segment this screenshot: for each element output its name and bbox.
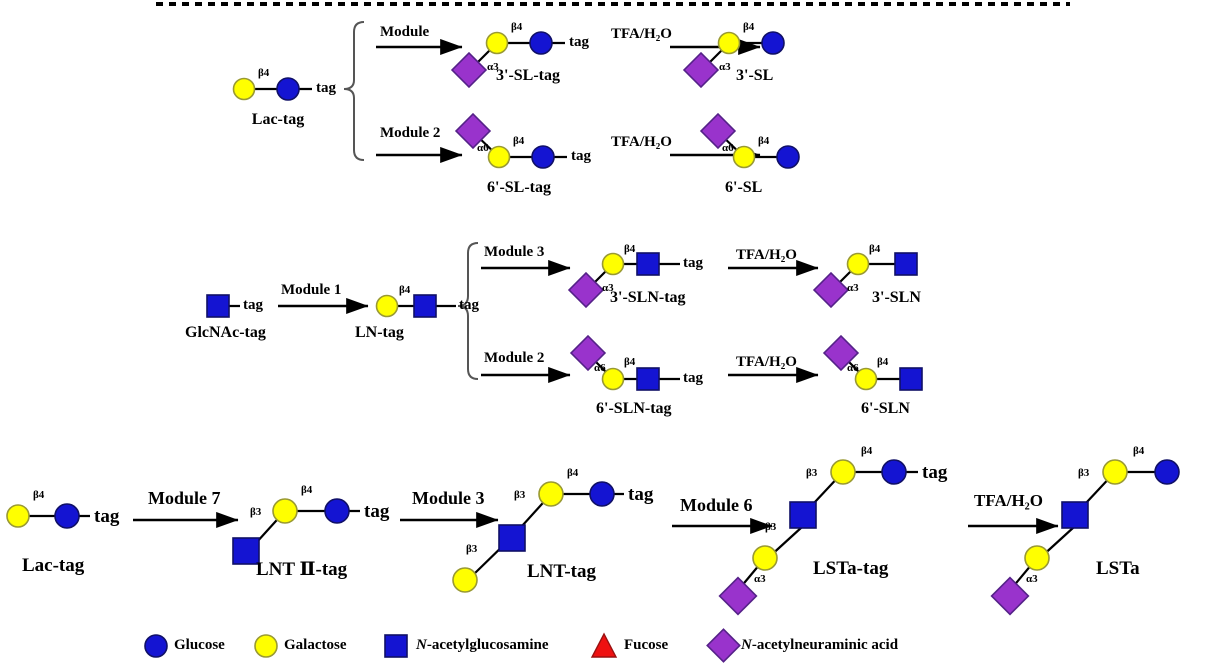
tag-label-lac-row1: tag bbox=[316, 81, 336, 96]
residue-galactose bbox=[719, 33, 740, 54]
legend-text-neuac: -acetylneuraminic acid bbox=[752, 637, 898, 653]
linkage-b4-lnt: β4 bbox=[567, 468, 578, 479]
linkage-a6-6sln-tag: α6 bbox=[594, 363, 606, 374]
residue-glcnac bbox=[900, 368, 922, 390]
residue-glcnac bbox=[637, 368, 659, 390]
linkage-b3-lnt-1: β3 bbox=[514, 490, 525, 501]
legend-italic-n-neuac: N bbox=[741, 637, 752, 653]
linkage-b3-lsta-tag-2: β3 bbox=[765, 522, 776, 533]
label-6sln: 6'-SLN bbox=[861, 401, 910, 417]
residue-galactose bbox=[539, 482, 563, 506]
label-lac-tag-row1: Lac-tag bbox=[252, 112, 304, 128]
residue-glcnac bbox=[207, 295, 229, 317]
label-6sl-tag: 6'-SL-tag bbox=[487, 180, 551, 196]
linkage-b4-6sln-tag: β4 bbox=[624, 357, 635, 368]
linkage-b4-3sl-tag: β4 bbox=[511, 22, 522, 33]
label-row2-module1: Module 1 bbox=[281, 283, 341, 298]
residue-glcnac bbox=[414, 295, 436, 317]
residue-galactose bbox=[831, 460, 855, 484]
residue-galactose bbox=[487, 33, 508, 54]
residue-galactose-branch bbox=[453, 568, 477, 592]
tag-label-6sl: tag bbox=[571, 149, 591, 164]
label-6sln-tag: 6'-SLN-tag bbox=[596, 401, 672, 417]
tag-label-6sln: tag bbox=[683, 371, 703, 386]
label-3sln: 3'-SLN bbox=[872, 290, 921, 306]
legend-galactose-icon bbox=[255, 635, 277, 657]
residue-glucose bbox=[590, 482, 614, 506]
legend-label-galactose: Galactose bbox=[284, 638, 346, 653]
linkage-b4-3sl: β4 bbox=[743, 22, 754, 33]
reagent-row2-upper: TFA/H₂O bbox=[736, 248, 797, 263]
label-row3-module7: Module 7 bbox=[148, 489, 221, 507]
label-row2-module-lower: Module 2 bbox=[484, 351, 544, 366]
label-lsta-tag: LSTa-tag bbox=[813, 559, 888, 578]
legend-label-fucose: Fucose bbox=[624, 638, 668, 653]
label-3sl-tag: 3'-SL-tag bbox=[496, 68, 560, 84]
residue-glucose bbox=[1155, 460, 1179, 484]
reagent-row2-lower: TFA/H₂O bbox=[736, 355, 797, 370]
tag-label-lac-row3: tag bbox=[94, 507, 119, 526]
linkage-a3-3sl: α3 bbox=[719, 62, 731, 73]
linkage-a3-lsta: α3 bbox=[1026, 574, 1038, 585]
linkage-b3-lsta-1: β3 bbox=[1078, 468, 1089, 479]
linkage-a6-6sln: α6 bbox=[847, 363, 859, 374]
reagent-text-row2-lower: TFA/H₂O bbox=[736, 354, 797, 370]
label-lnt2-tag: LNT Ⅱ-tag bbox=[256, 560, 347, 579]
tag-label-ln: tag bbox=[459, 298, 479, 313]
label-row1-module-lower: Module 2 bbox=[380, 126, 440, 141]
linkage-b3-lnt2: β3 bbox=[250, 507, 261, 518]
residue-galactose bbox=[234, 79, 255, 100]
figure-canvas: tag β4 Lac-tag Module Module 2 β4 α3 tag… bbox=[0, 0, 1222, 667]
residue-glcnac bbox=[790, 502, 816, 528]
residue-glucose bbox=[277, 78, 299, 100]
residue-galactose bbox=[273, 499, 297, 523]
residue-glcnac bbox=[637, 253, 659, 275]
label-ln-tag: LN-tag bbox=[355, 325, 404, 341]
legend-neuac-icon bbox=[707, 629, 740, 662]
reagent-text-row2-upper: TFA/H₂O bbox=[736, 247, 797, 263]
reagent-text-row1-lower: TFA/H₂O bbox=[611, 134, 672, 150]
legend-label-glcnac: N-acetylglucosamine bbox=[416, 638, 548, 653]
legend-glcnac-icon bbox=[385, 635, 407, 657]
label-3sln-tag: 3'-SLN-tag bbox=[610, 290, 686, 306]
linkage-b4-lsta-tag: β4 bbox=[861, 446, 872, 457]
tag-label-3sln: tag bbox=[683, 256, 703, 271]
legend-text-glcnac: -acetylglucosamine bbox=[427, 637, 549, 653]
residue-galactose bbox=[377, 296, 398, 317]
residue-glucose bbox=[882, 460, 906, 484]
linkage-b4-lsta: β4 bbox=[1133, 446, 1144, 457]
glycan-vector-layer bbox=[0, 0, 1222, 667]
linkage-b4-3sln-tag: β4 bbox=[624, 244, 635, 255]
residue-glcnac bbox=[895, 253, 917, 275]
reagent-text-row3: TFA/H₂O bbox=[974, 491, 1043, 510]
legend-fucose-icon bbox=[592, 634, 616, 657]
legend-italic-n-glcnac: N bbox=[416, 637, 427, 653]
linkage-b4-ln-tag: β4 bbox=[399, 285, 410, 296]
linkage-b3-lnt-2: β3 bbox=[466, 544, 477, 555]
label-lnt-tag: LNT-tag bbox=[527, 562, 596, 581]
reagent-row1-lower: TFA/H₂O bbox=[611, 135, 672, 150]
label-lac-tag-row3: Lac-tag bbox=[22, 556, 84, 575]
linkage-a3-lsta-tag: α3 bbox=[754, 574, 766, 585]
linkage-b4-3sln: β4 bbox=[869, 244, 880, 255]
linkage-b4-6sl: β4 bbox=[758, 136, 769, 147]
linkage-b4-lac-row3: β4 bbox=[33, 490, 44, 501]
label-lsta: LSTa bbox=[1096, 559, 1140, 578]
linkage-b4-6sln: β4 bbox=[877, 357, 888, 368]
structure-lsta bbox=[992, 460, 1179, 614]
residue-glucose bbox=[532, 146, 554, 168]
linkage-b3-lsta-tag-1: β3 bbox=[806, 468, 817, 479]
residue-galactose-branch bbox=[1025, 546, 1049, 570]
label-row3-module6: Module 6 bbox=[680, 496, 753, 514]
structure-6sl-tag bbox=[456, 114, 567, 168]
residue-neuac bbox=[720, 578, 757, 615]
residue-neuac bbox=[992, 578, 1029, 615]
linkage-b4-lnt2: β4 bbox=[301, 485, 312, 496]
tag-label-lnt2: tag bbox=[364, 502, 389, 521]
reagent-row1-upper: TFA/H₂O bbox=[611, 27, 672, 42]
reagent-row3: TFA/H₂O bbox=[974, 492, 1043, 509]
brace-row1 bbox=[344, 22, 364, 160]
linkage-b4-lac-row1: β4 bbox=[258, 68, 269, 79]
legend-label-glucose: Glucose bbox=[174, 638, 225, 653]
structure-6sl bbox=[701, 114, 799, 168]
residue-glucose bbox=[777, 146, 799, 168]
label-3sl: 3'-SL bbox=[736, 68, 773, 84]
label-row3-module3: Module 3 bbox=[412, 489, 485, 507]
legend-label-neuac: N-acetylneuraminic acid bbox=[741, 638, 898, 653]
reagent-text-row1-upper: TFA/H₂O bbox=[611, 26, 672, 42]
linkage-a3-3sln: α3 bbox=[847, 283, 859, 294]
residue-glucose bbox=[762, 32, 784, 54]
legend-glucose-icon bbox=[145, 635, 167, 657]
residue-glcnac bbox=[499, 525, 525, 551]
tag-label-lsta: tag bbox=[922, 463, 947, 482]
residue-galactose bbox=[848, 254, 869, 275]
label-row1-module-upper: Module bbox=[380, 25, 429, 40]
residue-galactose bbox=[734, 147, 755, 168]
residue-galactose bbox=[603, 254, 624, 275]
residue-glucose bbox=[530, 32, 552, 54]
residue-glcnac bbox=[1062, 502, 1088, 528]
tag-label-lnt: tag bbox=[628, 485, 653, 504]
tag-label-glcnac: tag bbox=[243, 298, 263, 313]
structure-6sln bbox=[824, 336, 922, 390]
label-glcnac-tag: GlcNAc-tag bbox=[185, 325, 266, 341]
linkage-b3-lsta-2: β3 bbox=[1037, 522, 1048, 533]
label-row2-module-upper: Module 3 bbox=[484, 245, 544, 260]
residue-glucose bbox=[325, 499, 349, 523]
residue-galactose bbox=[7, 505, 29, 527]
linkage-a6-6sl-tag: α6 bbox=[477, 143, 489, 154]
label-6sl: 6'-SL bbox=[725, 180, 762, 196]
residue-glucose bbox=[55, 504, 79, 528]
structure-lsta-tag bbox=[720, 460, 918, 614]
residue-galactose bbox=[1103, 460, 1127, 484]
structure-glcnac-tag bbox=[207, 295, 240, 317]
structure-ln-tag bbox=[377, 295, 457, 317]
residue-galactose bbox=[489, 147, 510, 168]
structure-lac-tag-row3 bbox=[7, 504, 90, 528]
structure-lac-tag-row1 bbox=[234, 78, 313, 100]
tag-label-3sl: tag bbox=[569, 35, 589, 50]
linkage-a6-6sl: α6 bbox=[722, 143, 734, 154]
residue-galactose-branch bbox=[753, 546, 777, 570]
linkage-b4-6sl-tag: β4 bbox=[513, 136, 524, 147]
